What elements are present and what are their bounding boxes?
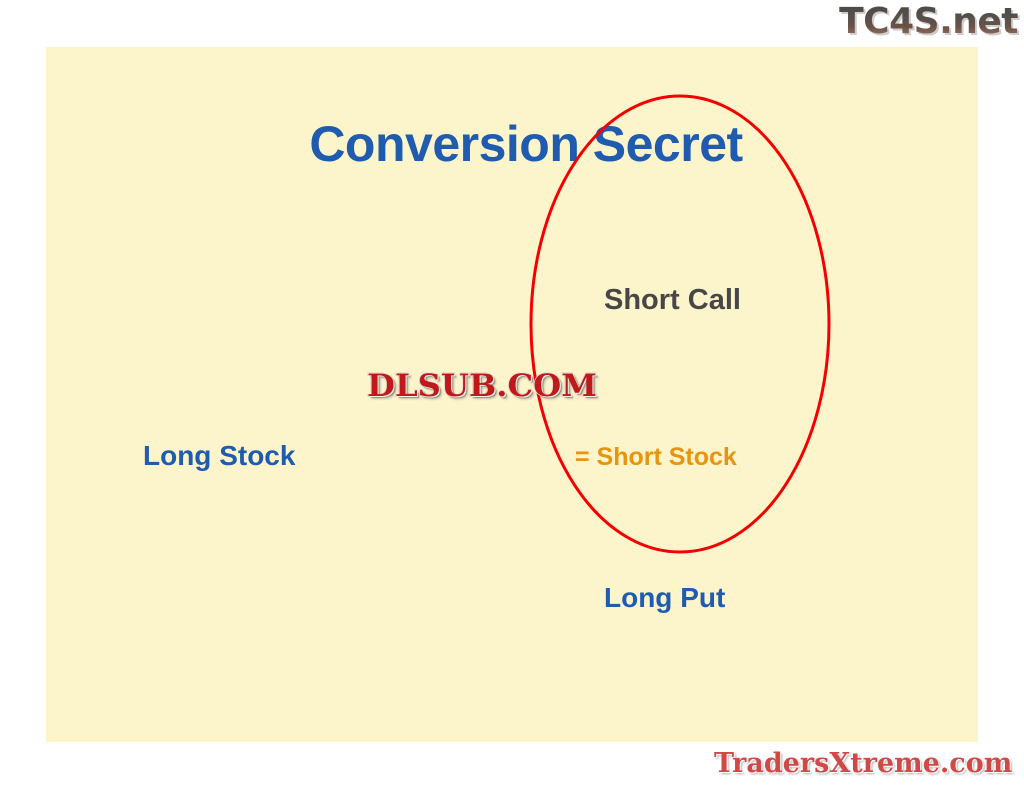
label-short-stock: = Short Stock (575, 443, 737, 472)
label-short-call: Short Call (604, 284, 741, 317)
tradersxtreme-watermark: TradersXtreme.com (714, 748, 1012, 780)
label-long-put: Long Put (604, 582, 725, 614)
dlsub-watermark-text: DLSUB.COM (367, 368, 597, 404)
tc4s-brand-logo: TC4S.net (839, 2, 1018, 42)
slide-screen: TC4S.net TC4S.net Conversion Secret Shor… (0, 0, 1024, 791)
dlsub-watermark: DLSUB.COM (367, 369, 597, 403)
label-long-stock: Long Stock (143, 440, 295, 472)
page-title: Conversion Secret (46, 115, 978, 173)
